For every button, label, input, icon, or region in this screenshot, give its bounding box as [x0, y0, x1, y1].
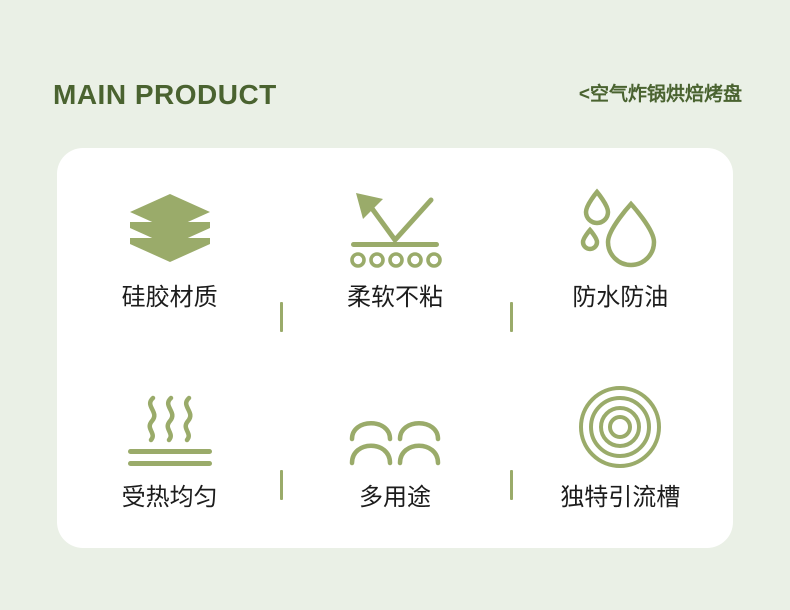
- feature-item-soft-nonstick: 柔软不粘: [282, 148, 507, 348]
- feature-label: 防水防油: [572, 282, 668, 312]
- feature-item-waterproof-oilproof: 防水防油: [508, 148, 733, 348]
- feature-item-silicone-material: 硅胶材质: [57, 148, 282, 348]
- features-card: 硅胶材质: [57, 148, 733, 548]
- concentric-circles-icon: [579, 384, 661, 468]
- stacked-layers-icon: [127, 184, 213, 268]
- product-feature-banner: MAIN PRODUCT <空气炸锅烘焙烤盘 硅胶材质: [0, 0, 790, 610]
- feature-label: 柔软不粘: [347, 282, 443, 312]
- water-droplets-icon: [576, 184, 664, 268]
- vertical-separator: [280, 470, 283, 500]
- vertical-separator: [510, 470, 513, 500]
- feature-label: 硅胶材质: [122, 282, 218, 312]
- feature-label: 受热均匀: [122, 482, 218, 512]
- features-grid: 硅胶材质: [57, 148, 733, 548]
- feature-item-multipurpose: 多用途: [282, 348, 507, 548]
- vertical-separator: [510, 302, 513, 332]
- page-title: MAIN PRODUCT: [53, 76, 277, 114]
- overlapping-arcs-icon: [347, 384, 443, 468]
- feature-label: 独特引流槽: [560, 482, 680, 512]
- feature-item-even-heating: 受热均匀: [57, 348, 282, 548]
- feature-item-unique-drainage-groove: 独特引流槽: [508, 348, 733, 548]
- product-category-label: <空气炸锅烘焙烤盘: [579, 80, 742, 110]
- bounce-arrow-nonstick-icon: [343, 184, 447, 268]
- vertical-separator: [280, 302, 283, 332]
- feature-label: 多用途: [359, 482, 431, 512]
- banner-header: MAIN PRODUCT <空气炸锅烘焙烤盘: [0, 76, 790, 118]
- heat-waves-icon: [124, 384, 216, 468]
